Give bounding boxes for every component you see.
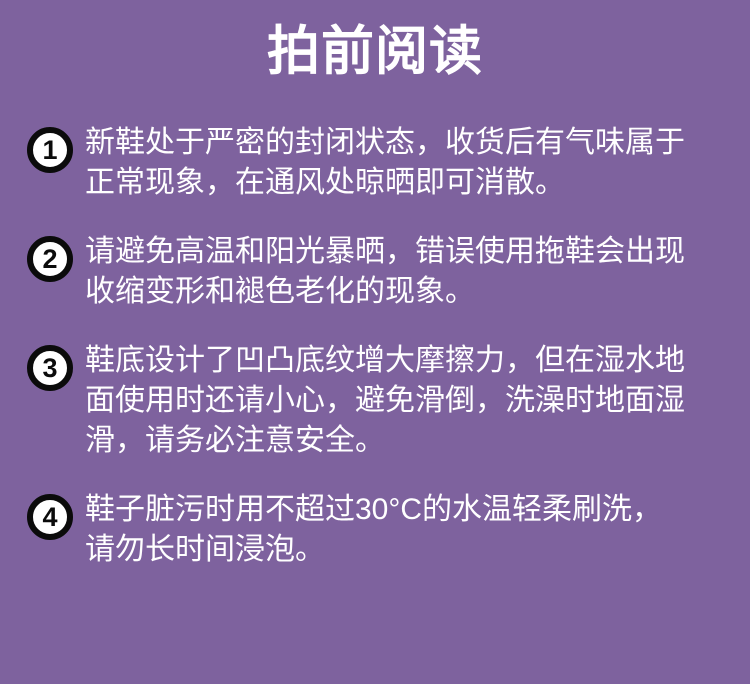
notice-list: 1 新鞋处于严密的封闭状态，收货后有气味属于正常现象，在通风处晾晒即可消散。 2… bbox=[0, 123, 750, 570]
list-item: 4 鞋子脏污时用不超过30°C的水温轻柔刷洗，请勿长时间浸泡。 bbox=[0, 490, 750, 570]
list-item: 1 新鞋处于严密的封闭状态，收货后有气味属于正常现象，在通风处晾晒即可消散。 bbox=[0, 123, 750, 203]
list-item: 3 鞋底设计了凹凸底纹增大摩擦力，但在湿水地面使用时还请小心，避免滑倒，洗澡时地… bbox=[0, 341, 750, 461]
product-notice-panel: 拍前阅读 1 新鞋处于严密的封闭状态，收货后有气味属于正常现象，在通风处晾晒即可… bbox=[0, 0, 750, 684]
page-title: 拍前阅读 bbox=[0, 21, 750, 83]
item-number-badge: 1 bbox=[27, 127, 73, 173]
item-text: 鞋底设计了凹凸底纹增大摩擦力，但在湿水地面使用时还请小心，避免滑倒，洗澡时地面湿… bbox=[85, 341, 685, 461]
list-item: 2 请避免高温和阳光暴晒，错误使用拖鞋会出现收缩变形和褪色老化的现象。 bbox=[0, 232, 750, 312]
item-text: 请避免高温和阳光暴晒，错误使用拖鞋会出现收缩变形和褪色老化的现象。 bbox=[85, 232, 685, 312]
item-number-badge: 4 bbox=[27, 494, 73, 540]
item-text: 鞋子脏污时用不超过30°C的水温轻柔刷洗，请勿长时间浸泡。 bbox=[85, 490, 685, 570]
item-text: 新鞋处于严密的封闭状态，收货后有气味属于正常现象，在通风处晾晒即可消散。 bbox=[85, 123, 685, 203]
item-number-badge: 3 bbox=[27, 345, 73, 391]
item-number-badge: 2 bbox=[27, 236, 73, 282]
